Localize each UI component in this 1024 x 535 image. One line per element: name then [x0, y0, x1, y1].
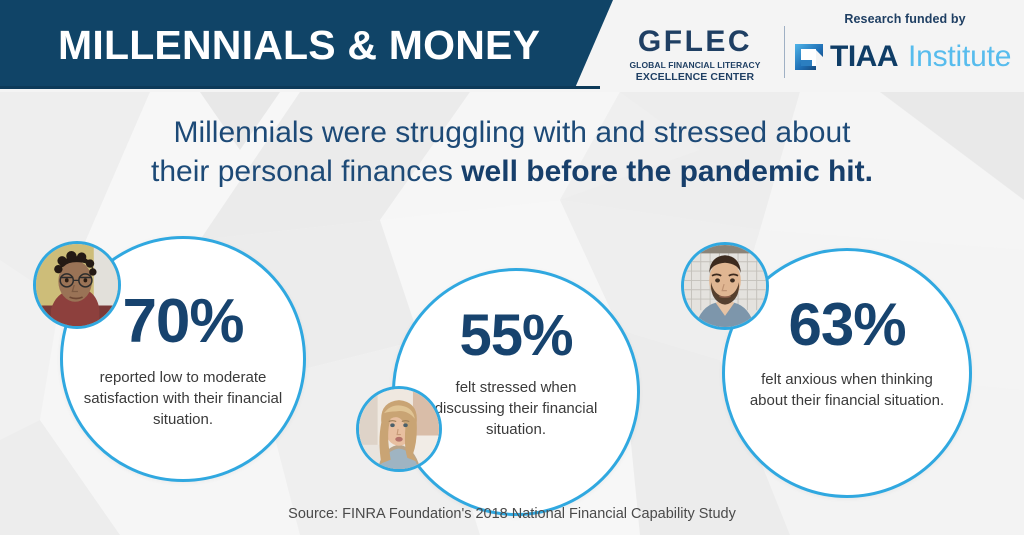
tiaa-institute-logo: TIAA Institute: [792, 40, 1011, 74]
avatar-photo: [684, 245, 766, 327]
infographic-canvas: MILLENNIALS & MONEY GFLEC GLOBAL FINANCI…: [0, 0, 1024, 535]
page-title: MILLENNIALS & MONEY: [58, 20, 540, 70]
headline: Millennials were struggling with and str…: [0, 113, 1024, 191]
gflec-wordmark: GFLEC: [620, 26, 770, 58]
gflec-tagline-line-1: GLOBAL FINANCIAL LITERACY: [620, 60, 770, 71]
stat-value: 55%: [395, 307, 637, 365]
logo-divider: [784, 26, 785, 78]
headline-line-2-regular: their personal finances: [151, 155, 461, 188]
avatar-photo: [359, 389, 439, 469]
avatar-man-beard: [681, 242, 769, 330]
headline-line-2-emphasis: well before the pandemic hit.: [461, 155, 873, 188]
source-note: Source: FINRA Foundation's 2018 National…: [0, 506, 1024, 522]
stat-circle-55-percent: 55% felt stressed when discussing their …: [392, 268, 640, 516]
headline-line-2: their personal finances well before the …: [0, 152, 1024, 191]
stat-content: 63% felt anxious when thinking about the…: [725, 295, 969, 411]
avatar-photo: [36, 244, 118, 326]
gflec-logo: GFLEC GLOBAL FINANCIAL LITERACY EXCELLEN…: [620, 26, 770, 84]
tiaa-product-text: Institute: [908, 41, 1011, 73]
headline-line-1: Millennials were struggling with and str…: [0, 113, 1024, 152]
avatar-man-glasses: [33, 241, 121, 329]
gflec-tagline-line-2: EXCELLENCE CENTER: [620, 71, 770, 84]
avatar-woman-blonde: [356, 386, 442, 472]
stat-description: reported low to moderate satisfaction wi…: [63, 367, 303, 430]
tiaa-square-icon: [792, 40, 826, 74]
stat-description: felt anxious when thinking about their f…: [725, 369, 969, 411]
tiaa-brand-text: TIAA: [830, 41, 898, 73]
funded-by-label: Research funded by: [795, 12, 1015, 26]
